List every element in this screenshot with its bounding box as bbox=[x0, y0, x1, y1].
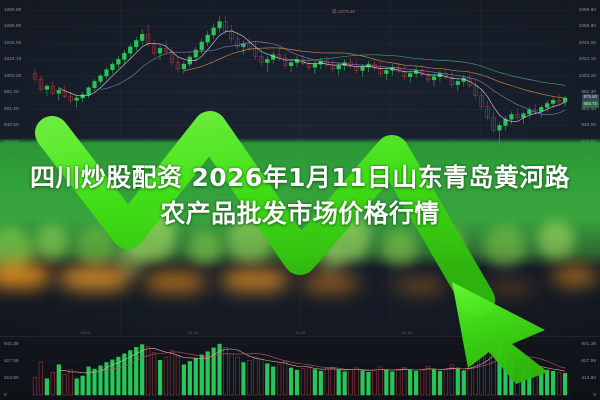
banner-title-line-2: 农产品批发市场价格行情 bbox=[0, 196, 600, 232]
arrow-head bbox=[452, 282, 548, 384]
banner-title: 四川炒股配资 2026年1月11日山东青岛黄河路 农产品批发市场价格行情 bbox=[0, 160, 600, 231]
stock-chart-banner: 1086.801065.901045.001024.101003.20982.3… bbox=[0, 0, 600, 400]
banner-title-line-1: 四川炒股配资 2026年1月11日山东青岛黄河路 bbox=[0, 160, 600, 196]
